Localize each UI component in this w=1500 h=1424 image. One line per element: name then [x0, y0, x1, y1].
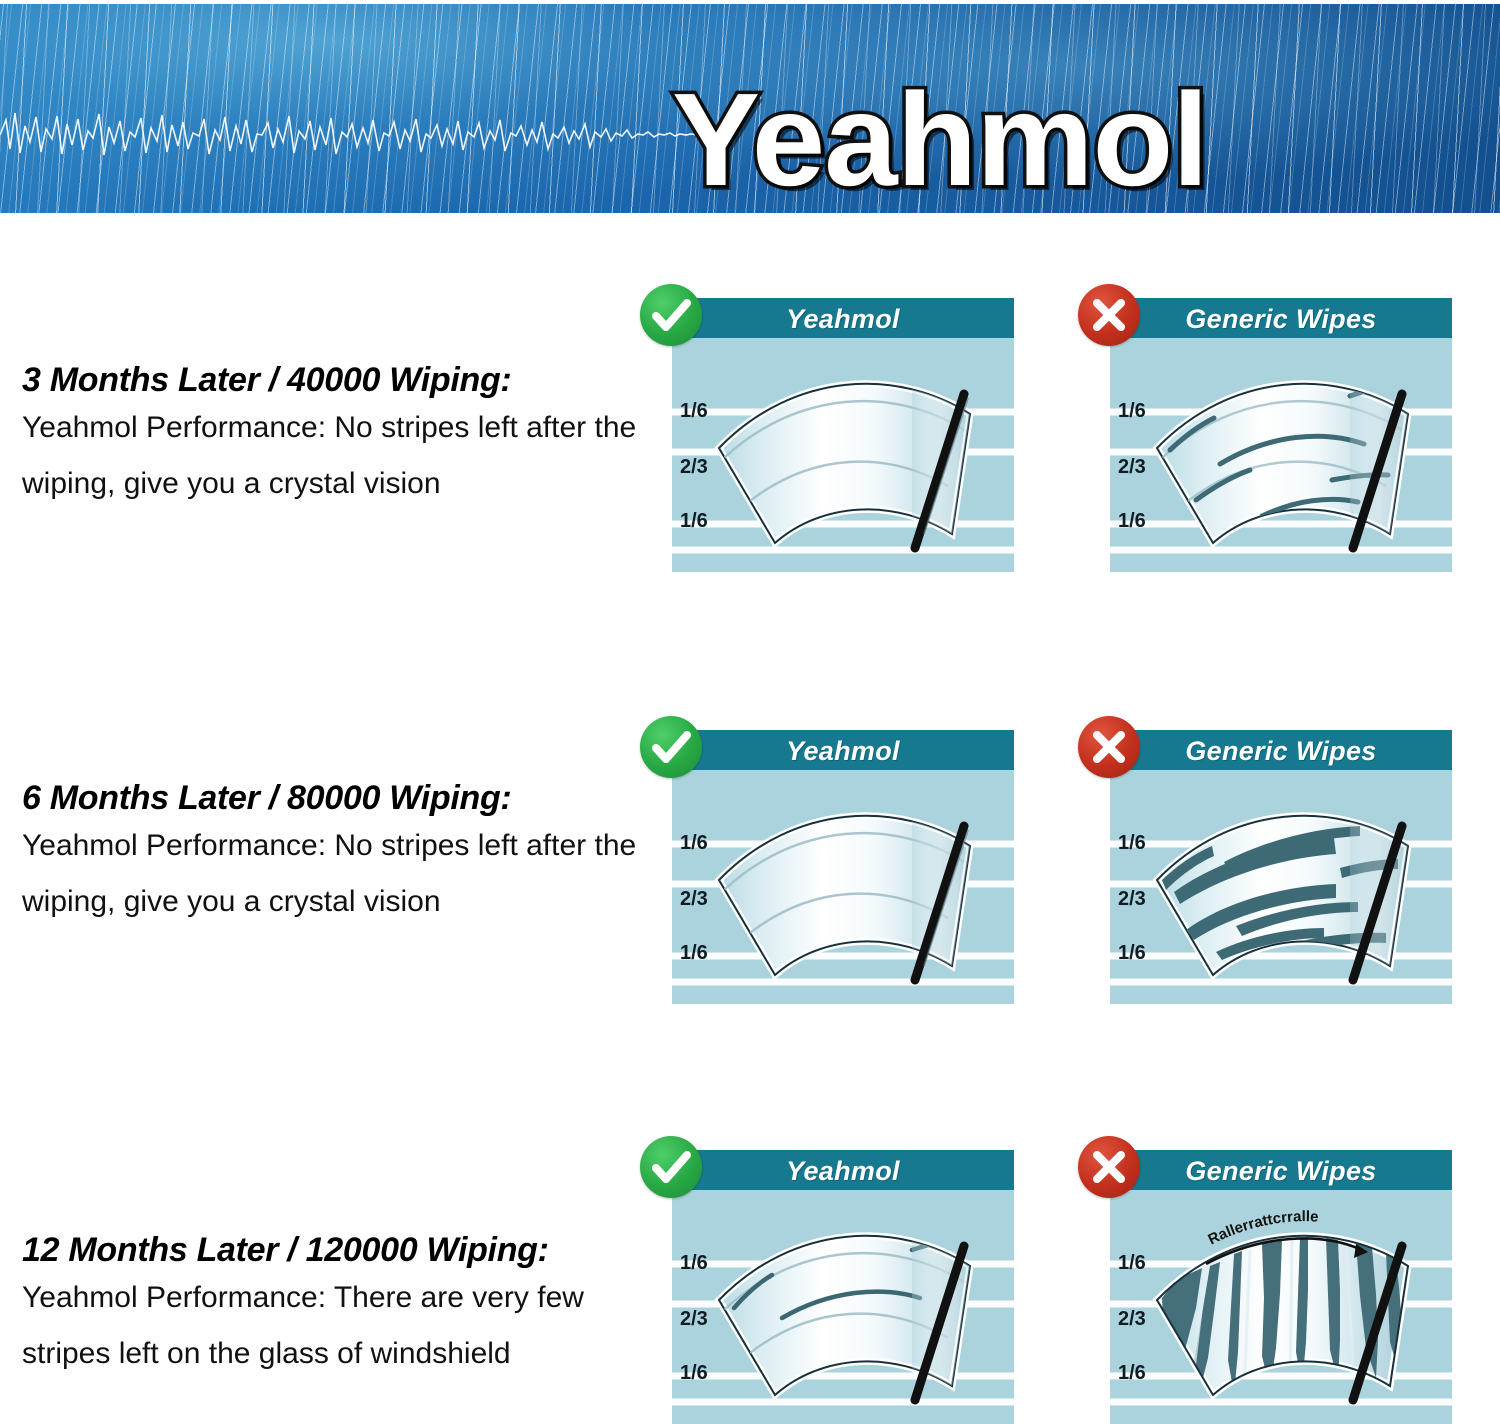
row-2-generic-diagram: 1/6 2/3 1/6: [1110, 770, 1452, 1004]
zone-label-top: 1/6: [680, 832, 708, 855]
banner-waveform-icon: [0, 108, 700, 162]
row-2-yeahmol-title: Yeahmol: [672, 732, 1014, 770]
row-2-yeahmol-diagram: 1/6 2/3 1/6: [672, 770, 1014, 1004]
row-2-body: Yeahmol Performance: No stripes left aft…: [22, 818, 672, 930]
row-3-generic-panel[interactable]: Generic Wipes: [1110, 1150, 1452, 1424]
row-1-generic-diagram: 1/6 2/3 1/6: [1110, 338, 1452, 572]
zone-label-top: 1/6: [1118, 832, 1146, 855]
x-circle-icon: [1078, 1136, 1140, 1198]
row-2-yeahmol-panel[interactable]: Yeahmol 1/6 2/3 1/6: [672, 730, 1014, 1004]
zone-label-middle: 2/3: [680, 456, 708, 479]
zone-label-bottom: 1/6: [1118, 942, 1146, 965]
comparison-row-2: 6 Months Later / 80000 Wiping: Yeahmol P…: [0, 700, 1500, 1020]
row-2-text: 6 Months Later / 80000 Wiping: Yeahmol P…: [22, 778, 672, 930]
row-3-text: 12 Months Later / 120000 Wiping: Yeahmol…: [22, 1230, 672, 1382]
zone-label-bottom: 1/6: [680, 942, 708, 965]
row-1-yeahmol-panel[interactable]: Yeahmol: [672, 298, 1014, 572]
check-circle-icon: [640, 1136, 702, 1198]
zone-label-middle: 2/3: [1118, 888, 1146, 911]
row-3-yeahmol-panel[interactable]: Yeahmol 1/6: [672, 1150, 1014, 1424]
row-3-yeahmol-diagram: 1/6 2/3 1/6: [672, 1190, 1014, 1424]
zone-label-top: 1/6: [680, 400, 708, 423]
row-3-generic-diagram: Rallerrattcrralle 1/6 2/3 1/6: [1110, 1190, 1452, 1424]
brand-banner: Yeahmol: [0, 4, 1500, 213]
row-3-body: Yeahmol Performance: There are very few …: [22, 1270, 672, 1382]
zone-label-bottom: 1/6: [680, 1362, 708, 1385]
zone-label-middle: 2/3: [1118, 1308, 1146, 1331]
x-circle-icon: [1078, 716, 1140, 778]
zone-label-bottom: 1/6: [1118, 510, 1146, 533]
row-3-generic-header: Generic Wipes: [1110, 1150, 1452, 1190]
row-2-generic-header: Generic Wipes: [1110, 730, 1452, 770]
row-2-generic-title: Generic Wipes: [1110, 732, 1452, 770]
row-3-generic-title: Generic Wipes: [1110, 1152, 1452, 1190]
row-2-heading: 6 Months Later / 80000 Wiping:: [22, 778, 672, 818]
row-1-text: 3 Months Later / 40000 Wiping: Yeahmol P…: [22, 360, 672, 512]
zone-label-bottom: 1/6: [680, 510, 708, 533]
row-2-generic-panel[interactable]: Generic Wipes: [1110, 730, 1452, 1004]
check-circle-icon: [640, 716, 702, 778]
zone-label-middle: 2/3: [680, 1308, 708, 1331]
zone-label-middle: 2/3: [680, 888, 708, 911]
zone-label-top: 1/6: [1118, 400, 1146, 423]
zone-label-top: 1/6: [680, 1252, 708, 1275]
row-1-yeahmol-header: Yeahmol: [672, 298, 1014, 338]
row-1-generic-panel[interactable]: Generic Wipes: [1110, 298, 1452, 572]
zone-label-middle: 2/3: [1118, 456, 1146, 479]
zone-label-bottom: 1/6: [1118, 1362, 1146, 1385]
row-1-yeahmol-diagram: 1/6 2/3 1/6: [672, 338, 1014, 572]
row-2-yeahmol-header: Yeahmol: [672, 730, 1014, 770]
zone-label-top: 1/6: [1118, 1252, 1146, 1275]
row-3-heading: 12 Months Later / 120000 Wiping:: [22, 1230, 672, 1270]
x-circle-icon: [1078, 284, 1140, 346]
row-1-body: Yeahmol Performance: No stripes left aft…: [22, 400, 672, 512]
row-3-yeahmol-title: Yeahmol: [672, 1152, 1014, 1190]
row-1-generic-header: Generic Wipes: [1110, 298, 1452, 338]
comparison-row-1: 3 Months Later / 40000 Wiping: Yeahmol P…: [0, 268, 1500, 588]
row-1-generic-title: Generic Wipes: [1110, 300, 1452, 338]
check-circle-icon: [640, 284, 702, 346]
comparison-row-3: 12 Months Later / 120000 Wiping: Yeahmol…: [0, 1120, 1500, 1412]
row-1-heading: 3 Months Later / 40000 Wiping:: [22, 360, 672, 400]
row-1-yeahmol-title: Yeahmol: [672, 300, 1014, 338]
brand-wordmark: Yeahmol: [672, 70, 1492, 210]
row-3-yeahmol-header: Yeahmol: [672, 1150, 1014, 1190]
